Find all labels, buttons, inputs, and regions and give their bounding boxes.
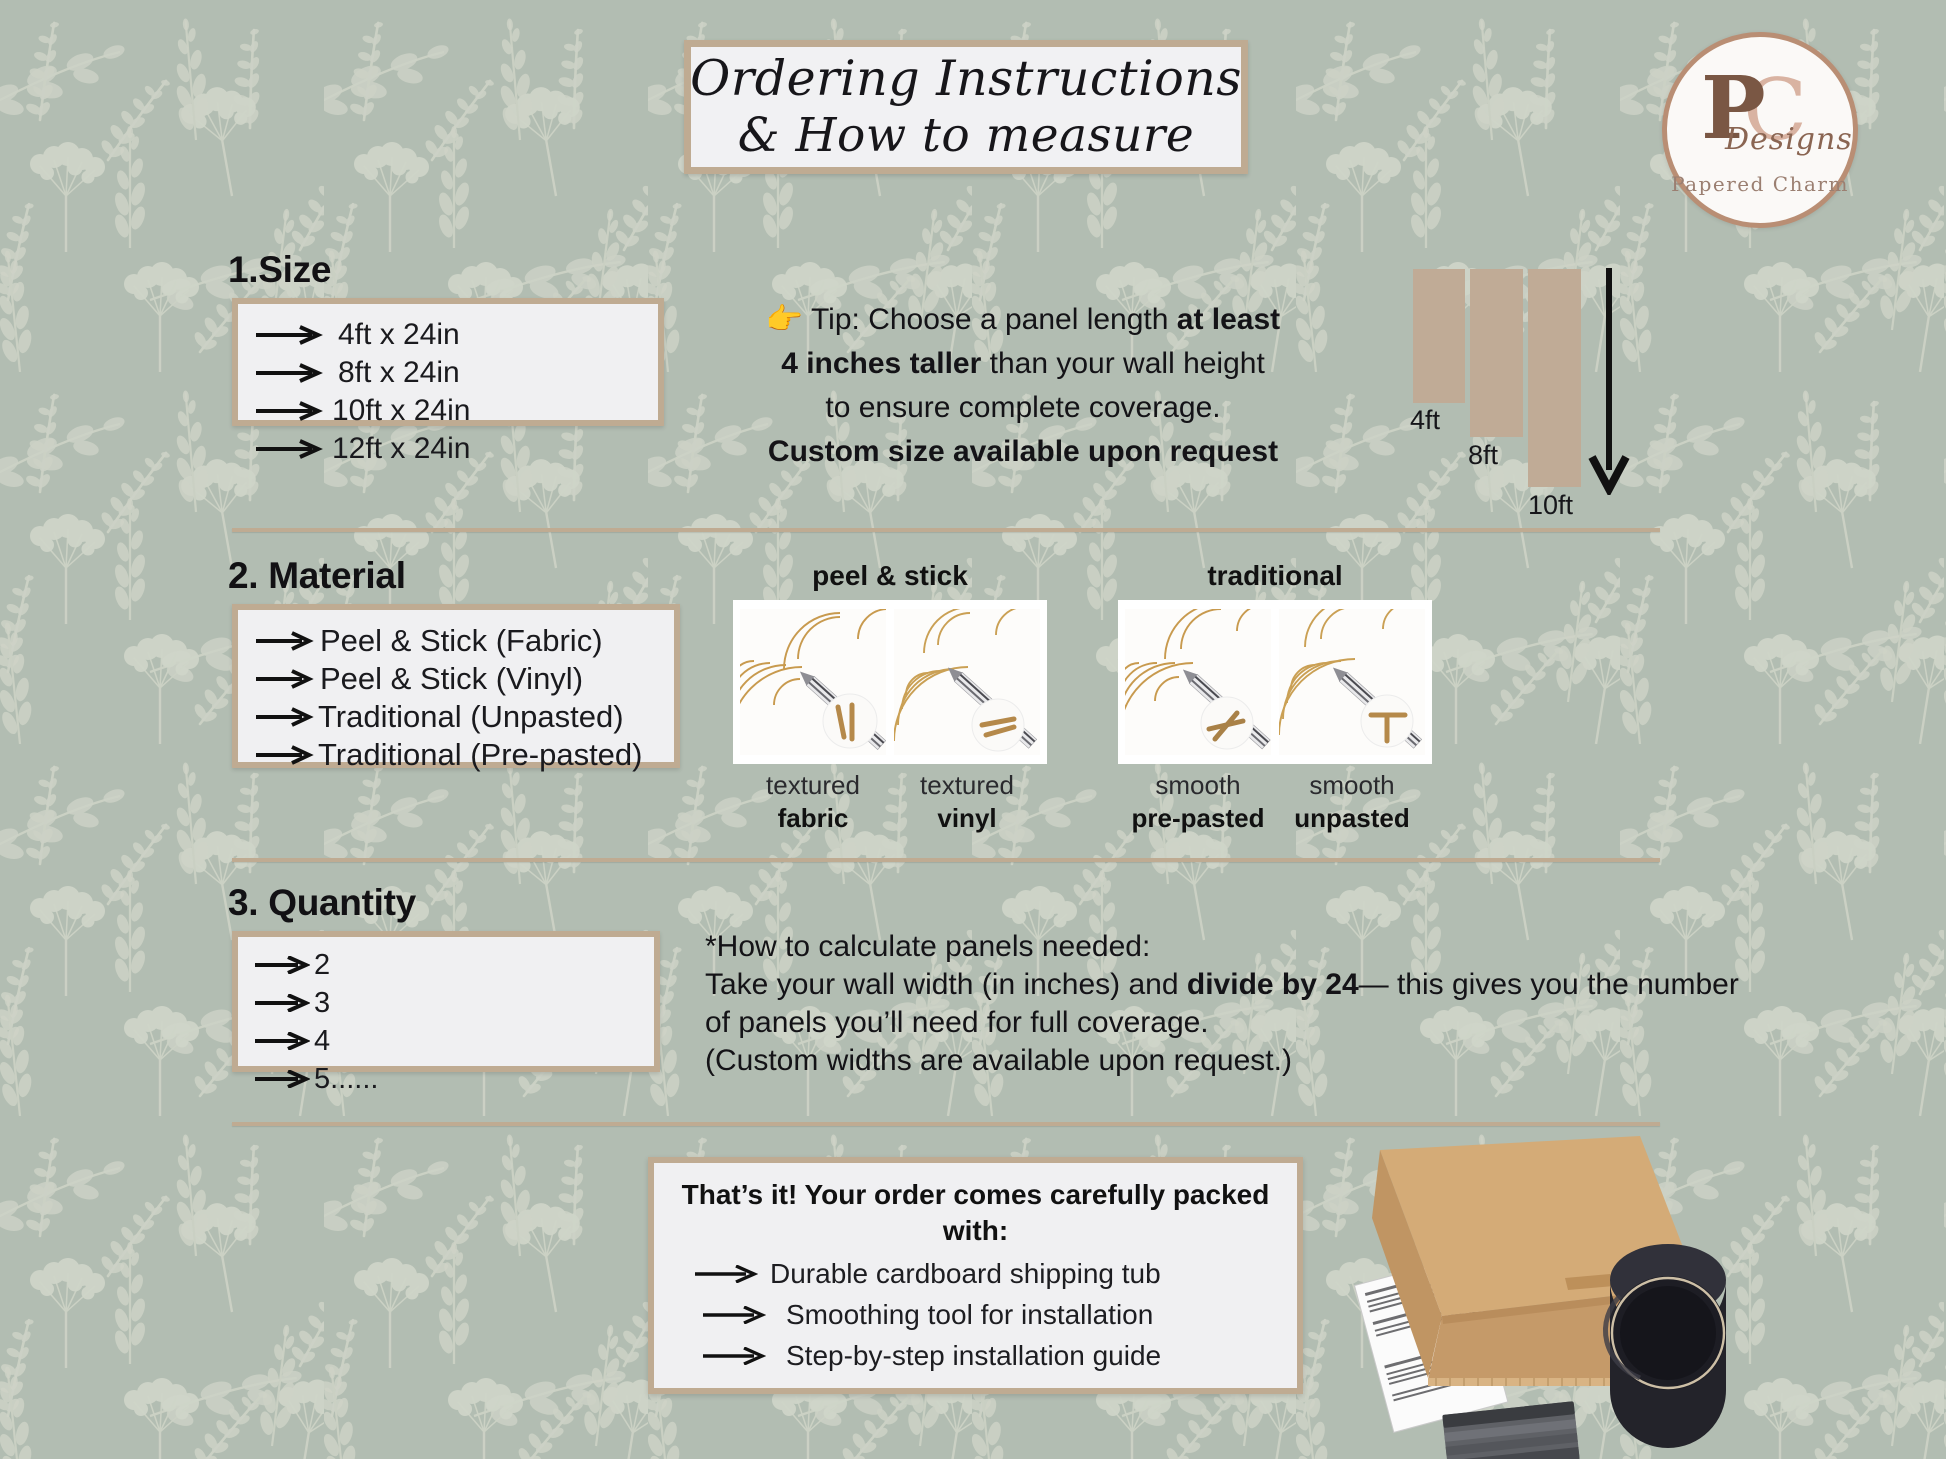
size-option-row[interactable]: 8ft x 24in [254,354,642,392]
bar-4ft [1413,269,1465,403]
swatch-captions: smooth pre-pasted smooth unpasted [1118,770,1432,834]
quantity-note-line-2: Take your wall width (in inches) and div… [705,966,1900,1004]
swatch-caption-line-2: unpasted [1279,803,1425,834]
swatch-caption-fabric: textured fabric [740,770,886,834]
arrow-right-icon [254,669,314,689]
order-contents-box: That’s it! Your order comes carefully pa… [648,1157,1303,1394]
quantity-option-row[interactable]: 5...... [254,1063,638,1095]
quantity-note-line-3: of panels you’ll need for full coverage. [705,1004,1900,1042]
page-title-box: Ordering Instructions & How to measure [684,40,1248,174]
size-option-row[interactable]: 4ft x 24in [254,316,642,354]
quantity-option-label: 4 [314,1025,330,1057]
bar-8ft [1470,269,1523,437]
arrow-right-icon [254,994,310,1012]
swatch-group-traditional: traditional [1118,560,1432,834]
swatch-group-title: traditional [1118,560,1432,592]
order-contents-title: That’s it! Your order comes carefully pa… [672,1177,1279,1249]
quantity-note-line-1: *How to calculate panels needed: [705,928,1900,966]
material-option-label: Traditional (Unpasted) [318,698,624,736]
size-option-label: 12ft x 24in [332,430,470,468]
size-option-row[interactable]: 10ft x 24in [254,392,642,430]
section-heading-quantity: 3. Quantity [228,882,416,924]
size-option-label: 10ft x 24in [332,392,470,430]
swatch-caption-line-1: textured [894,770,1040,801]
material-option-row[interactable]: Traditional (Unpasted) [254,698,658,736]
material-option-label: Traditional (Pre-pasted) [318,736,643,774]
divider-2 [232,858,1660,862]
swatch-frame [733,600,1047,764]
size-option-label: 8ft x 24in [338,354,460,392]
logo-monogram: C P Designs [1695,70,1825,162]
size-tip-line-1a: Tip: Choose a panel length [811,303,1177,336]
brand-logo: C P Designs Papered Charm [1662,32,1858,228]
swatch-frame [1118,600,1432,764]
quantity-option-label: 3 [314,987,330,1019]
size-options-box: 4ft x 24in 8ft x 24in 10ft x 24in 12ft x… [232,298,664,426]
arrow-right-icon [702,1306,766,1324]
swatch-group-title: peel & stick [733,560,1047,592]
swatch-image-smooth-unpasted [1279,609,1425,755]
swatch-captions: textured fabric textured vinyl [733,770,1047,834]
quantity-option-row[interactable]: 3 [254,987,638,1019]
material-option-row[interactable]: Peel & Stick (Vinyl) [254,660,658,698]
packaging-photo [1310,1128,1946,1459]
material-option-row[interactable]: Traditional (Pre-pasted) [254,736,658,774]
material-options-box: Peel & Stick (Fabric) Peel & Stick (Viny… [232,604,680,768]
bar-label-4ft: 4ft [1410,405,1440,436]
quantity-option-row[interactable]: 2 [254,949,638,981]
logo-script-text: Designs [1725,122,1853,157]
order-contents-item: Durable cardboard shipping tub [672,1258,1279,1290]
order-contents-item: Smoothing tool for installation [672,1299,1279,1331]
arrow-right-icon [254,439,324,459]
order-contents-item-label: Smoothing tool for installation [786,1299,1153,1331]
arrow-right-icon [254,707,314,727]
size-tip-line-1: 👉 Tip: Choose a panel length at least [718,298,1328,342]
size-tip-line-2b: than your wall height [981,347,1265,380]
arrow-right-icon [694,1265,758,1283]
swatch-image-textured-vinyl [894,609,1040,755]
swatch-image-textured-fabric [740,609,886,755]
material-option-label: Peel & Stick (Fabric) [320,622,603,660]
arrow-right-icon [254,631,314,651]
size-tip-line-2a: 4 inches taller [781,347,981,380]
arrow-right-icon [254,956,310,974]
arrow-right-icon [254,1070,310,1088]
swatch-caption-line-1: smooth [1125,770,1271,801]
quantity-option-label: 2 [314,949,330,981]
arrow-right-icon [254,401,324,421]
bar-label-10ft: 10ft [1528,490,1573,521]
bar-label-8ft: 8ft [1468,440,1498,471]
quantity-note-text: *How to calculate panels needed: Take yo… [705,928,1900,1080]
divider-1 [232,528,1660,532]
material-option-row[interactable]: Peel & Stick (Fabric) [254,622,658,660]
page-title-line-2: & How to measure [738,108,1194,163]
swatch-caption-pre-pasted: smooth pre-pasted [1125,770,1271,834]
size-tip-line-4: Custom size available upon request [718,430,1328,474]
material-option-label: Peel & Stick (Vinyl) [320,660,583,698]
size-tip-line-2: 4 inches taller than your wall height [718,342,1328,386]
order-contents-item: Step-by-step installation guide [672,1340,1279,1372]
page-title-line-1: Ordering Instructions [690,50,1242,108]
divider-3 [232,1122,1660,1126]
quantity-note-line-4: (Custom widths are available upon reques… [705,1042,1900,1080]
quantity-note-line-2c: — this gives you the number [1359,968,1739,1001]
swatch-caption-vinyl: textured vinyl [894,770,1040,834]
size-tip-text: 👉 Tip: Choose a panel length at least 4 … [718,298,1328,474]
swatch-caption-unpasted: smooth unpasted [1279,770,1425,834]
order-contents-item-label: Durable cardboard shipping tub [770,1258,1161,1290]
arrow-right-icon [254,325,324,345]
section-heading-size: 1.Size [228,249,331,291]
downward-arrow-icon [1586,265,1632,500]
swatch-group-peel-and-stick: peel & stick [733,560,1047,834]
arrow-right-icon [702,1347,766,1365]
bar-10ft [1528,269,1581,487]
swatch-caption-line-2: pre-pasted [1125,803,1271,834]
size-tip-line-3: to ensure complete coverage. [718,386,1328,430]
pointing-hand-icon: 👉 [766,303,803,336]
swatch-caption-line-1: smooth [1279,770,1425,801]
arrow-right-icon [254,1032,310,1050]
section-heading-material: 2. Material [228,555,406,597]
swatch-image-smooth-pre-pasted [1125,609,1271,755]
order-contents-item-label: Step-by-step installation guide [786,1340,1161,1372]
swatch-caption-line-1: textured [740,770,886,801]
size-option-label: 4ft x 24in [338,316,460,354]
size-tip-line-1b: at least [1177,303,1280,336]
quantity-note-line-2a: Take your wall width (in inches) and [705,968,1187,1001]
size-option-row[interactable]: 12ft x 24in [254,430,642,468]
arrow-right-icon [254,745,314,765]
swatch-caption-line-2: fabric [740,803,886,834]
quantity-options-box: 2 3 4 5...... [232,931,660,1072]
quantity-option-row[interactable]: 4 [254,1025,638,1057]
arrow-right-icon [254,363,324,383]
logo-subtitle: Papered Charm [1671,172,1849,196]
quantity-option-label: 5...... [314,1063,378,1095]
swatch-caption-line-2: vinyl [894,803,1040,834]
panel-length-bar-chart: 4ft 8ft 10ft [1400,255,1640,505]
quantity-note-line-2b: divide by 24 [1187,968,1359,1001]
